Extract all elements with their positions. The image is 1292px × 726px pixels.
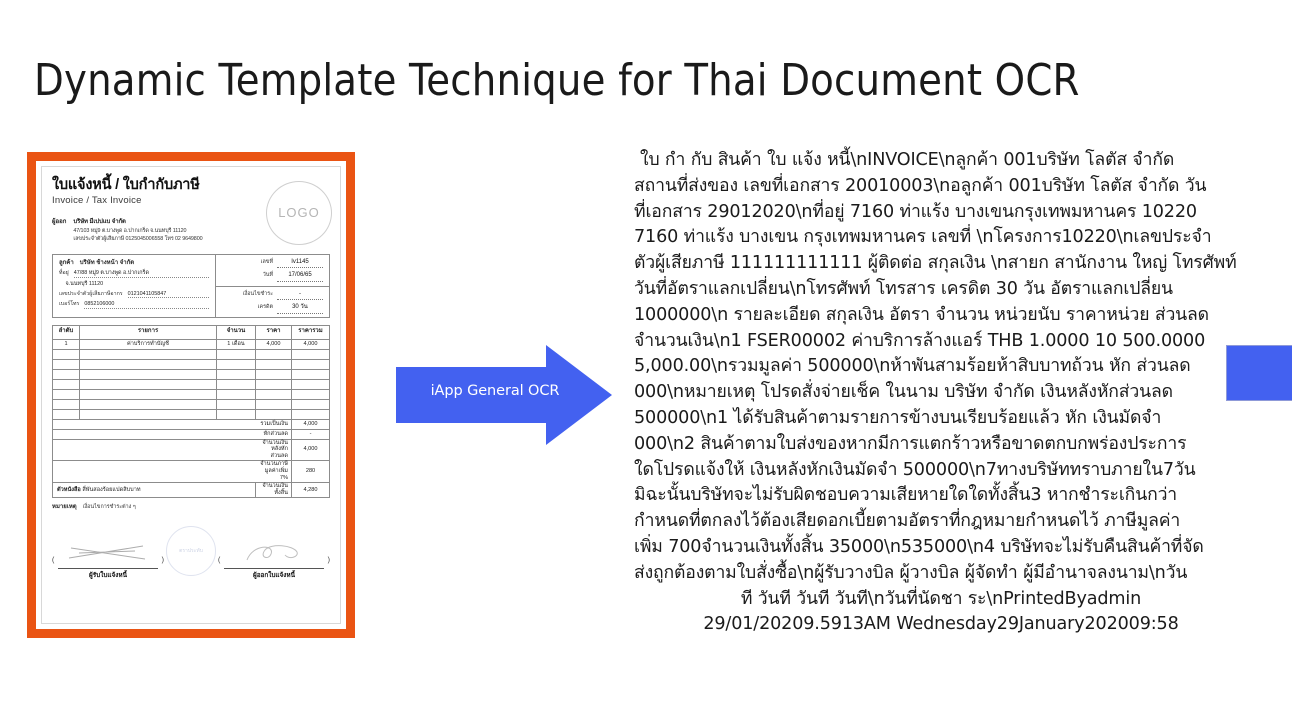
ocr-line: เพิ่ม 700จำนวนเงินทั้งสิ้น 35000\n535000… [634, 535, 1248, 561]
cell-no: 1 [53, 339, 80, 349]
table-row-empty [53, 369, 330, 379]
table-row-empty [53, 379, 330, 389]
payment-terms-row: เงื่อนไขชำระ - [222, 291, 323, 301]
ocr-line: มิฉะนั้นบริษัทจะไม่รับผิดชอบความเสียหายใ… [634, 483, 1248, 509]
summary-value-grand-total: 4,280 [292, 483, 330, 498]
invoice-meta-bottom: เงื่อนไขชำระ - เครดิต 30 วัน [216, 287, 329, 318]
credit-value: 30 วัน [277, 304, 323, 314]
summary-row-subtotal: รวมเป็นเงิน 4,000 [53, 419, 330, 429]
summary-label-grand-total: จำนวนเงินทั้งสิ้น [256, 483, 292, 498]
customer-address-line1: 47/88 หมู่9 ต.บางพูด อ.ปากเกร็ด [74, 270, 209, 278]
col-header-total: ราคารวม [292, 325, 330, 339]
ocr-line: 7160 ท่าแร้ง บางเขน กรุงเทพมหานคร เลขที่… [634, 225, 1248, 251]
summary-row-grand-total: ตัวหนังสือ สี่พันสองร้อยแปดสิบบาท จำนวนเ… [53, 483, 330, 498]
doc-number-value: Iv1145 [277, 259, 323, 269]
invoice-meta-block: เลขที่ Iv1145 วันที่ 17/06/65 เงื่อนไขชำ… [216, 255, 329, 317]
signature-line-right [224, 568, 324, 569]
open-paren-right: ( [218, 557, 220, 566]
summary-label-vat: จำนวนภาษีมูลค่าเพิ่ม 7% [256, 461, 292, 483]
col-header-no: ลำดับ [53, 325, 80, 339]
open-paren-left: ( [52, 557, 54, 566]
summary-label-after-discount: จำนวนเงินหลังหักส่วนลด [256, 439, 292, 461]
doc-date-value: 17/06/65 [277, 272, 323, 282]
summary-row-vat: จำนวนภาษีมูลค่าเพิ่ม 7% 280 [53, 461, 330, 483]
table-row: 1 ค่าบริการทำบัญชี 1 เดือน 4,000 4,000 [53, 339, 330, 349]
right-arrow-icon [396, 345, 612, 445]
customer-block: ลูกค้า บริษัท ช้างหน้า จำกัด ที่อยู่ 47/… [53, 255, 216, 317]
invoice-items-table: ลำดับ รายการ จำนวน ราคา ราคารวม 1 ค่าบริ… [52, 325, 330, 499]
issuer-details: บริษัท มีเปปแบ จำกัด 47/103 หมู่9 ต.บางพ… [73, 219, 202, 245]
invoice-inner-page: ใบแจ้งหนี้ / ใบกำกับภาษี Invoice / Tax I… [41, 166, 341, 624]
ocr-line: ส่งถูกต้องตามใบสั่งซื้อ\nผู้รับวางบิล ผู… [634, 561, 1248, 587]
summary-label-subtotal: รวมเป็นเงิน [256, 419, 292, 429]
summary-value-subtotal: 4,000 [292, 419, 330, 429]
logo-placeholder: LOGO [266, 181, 332, 245]
handwritten-signature-icon [65, 542, 151, 564]
blue-rectangle-shape [1226, 345, 1292, 401]
amount-in-words-cell: ตัวหนังสือ สี่พันสองร้อยแปดสิบบาท [53, 483, 256, 498]
ocr-line: สถานที่ส่งของ เลขที่เอกสาร 20010003\nอลู… [634, 174, 1248, 200]
customer-taxid-label: เลขประจำตัวผู้เสียภาษีอากร [59, 291, 123, 298]
ocr-line: 000\nหมายเหตุ โปรดสั่งจ่ายเช็ค ในนาม บริ… [634, 380, 1248, 406]
cell-desc: ค่าบริการทำบัญชี [80, 339, 217, 349]
invoice-meta-top: เลขที่ Iv1145 วันที่ 17/06/65 [216, 255, 329, 287]
logo-text: LOGO [278, 205, 320, 221]
handwritten-signature-icon [231, 542, 317, 564]
ocr-line: จำนวนเงิน\n1 FSER00002 ค่าบริการล้างแอร์… [634, 329, 1248, 355]
table-row-empty [53, 399, 330, 409]
customer-address-line2: จ.นนทบุรี 11120 [65, 281, 209, 288]
note-text: เงื่อนไขการชำระต่าง ๆ [83, 504, 136, 511]
credit-row: เครดิต 30 วัน [222, 304, 323, 314]
credit-label: เครดิต [258, 304, 273, 311]
invoice-document-image: ใบแจ้งหนี้ / ใบกำกับภาษี Invoice / Tax I… [27, 152, 355, 638]
process-arrow [396, 345, 612, 445]
customer-address-label: ที่อยู่ [59, 270, 69, 277]
doc-date-label: วันที่ [263, 272, 273, 279]
payment-terms-value: - [277, 291, 323, 301]
amount-in-words-label: ตัวหนังสือ [57, 487, 81, 493]
col-header-desc: รายการ [80, 325, 217, 339]
cell-price: 4,000 [256, 339, 292, 349]
summary-value-vat: 280 [292, 461, 330, 483]
amount-in-words-value: สี่พันสองร้อยแปดสิบบาท [82, 487, 140, 493]
ocr-line: ใบ กำ กับ สินค้า ใบ แจ้ง หนี้\nINVOICE\n… [634, 148, 1248, 174]
summary-label-discount: หักส่วนลด [256, 429, 292, 439]
close-paren-right: ) [328, 557, 330, 566]
customer-phone-label: เบอร์โทร [59, 301, 79, 308]
ocr-line: 5,000.00\nรวมมูลค่า 500000\nห้าพันสามร้อ… [634, 354, 1248, 380]
table-row-empty [53, 349, 330, 359]
table-row-empty [53, 409, 330, 419]
doc-number-label: เลขที่ [261, 259, 273, 266]
summary-value-discount: - [292, 429, 330, 439]
summary-value-after-discount: 4,000 [292, 439, 330, 461]
ocr-line: กำหนดที่ตกลงไว้ต้องเสียดอกเบี้ยตามอัตราท… [634, 509, 1248, 535]
close-paren-left: ) [162, 557, 164, 566]
table-row-empty [53, 389, 330, 399]
customer-label: ลูกค้า [59, 260, 74, 268]
note-block: หมายเหตุ เงื่อนไขการชำระต่าง ๆ [52, 504, 330, 512]
issuer-label: ผู้ออก [52, 219, 66, 245]
company-stamp-icon: ตราประทับ [166, 526, 216, 576]
cell-total: 4,000 [292, 339, 330, 349]
issuer-tax-id: เลขประจำตัวผู้เสียภาษี 0125045006558 โทร… [73, 236, 202, 243]
signature-receiver: ( ) ผู้รับใบแจ้งหนี้ [52, 557, 164, 580]
ocr-line: 29/01/20209.5913AM Wednesday29January202… [634, 612, 1248, 638]
ocr-line: 1000000\n รายละเอียด สกุลเงิน อัตรา จำนว… [634, 303, 1248, 329]
ocr-line: 500000\n1 ได้รับสินค้าตามรายการข้างบนเรี… [634, 406, 1248, 432]
customer-phone-value: 0852106000 [84, 301, 209, 309]
ocr-line: ที วันที วันที วันที\nวันที่นัดชา ระ\nPr… [634, 587, 1248, 613]
signature-block: ( ) ผู้รับใบแจ้งหนี้ ตราประทับ ( ) [52, 522, 330, 580]
signature-line-left [58, 568, 158, 569]
ocr-line: วันที่อัตราแลกเปลี่ยน\nโทรศัพท์ โทรสาร เ… [634, 277, 1248, 303]
party-and-meta-box: ลูกค้า บริษัท ช้างหน้า จำกัด ที่อยู่ 47/… [52, 254, 330, 318]
table-row-empty [53, 359, 330, 369]
customer-name: บริษัท ช้างหน้า จำกัด [80, 260, 135, 268]
summary-row-discount: หักส่วนลด - [53, 429, 330, 439]
summary-row-after-discount: จำนวนเงินหลังหักส่วนลด 4,000 [53, 439, 330, 461]
note-label: หมายเหตุ [52, 504, 77, 512]
ocr-line: ที่เอกสาร 29012020\nที่อยู่ 7160 ท่าแร้ง… [634, 200, 1248, 226]
page-title: Dynamic Template Technique for Thai Docu… [34, 55, 1080, 106]
signature-caption-right: ผู้ออกใบแจ้งหนี้ [218, 572, 330, 580]
ocr-output-text: ใบ กำ กับ สินค้า ใบ แจ้ง หนี้\nINVOICE\n… [634, 148, 1248, 638]
issuer-address: 47/103 หมู่9 ต.บางพูด อ.ปากเกร็ด จ.นนทบุ… [73, 228, 202, 235]
cell-qty: 1 เดือน [217, 339, 256, 349]
col-header-price: ราคา [256, 325, 292, 339]
issuer-name: บริษัท มีเปปแบ จำกัด [73, 219, 202, 227]
ocr-line: 000\n2 สินค้าตามใบส่งของหากมีการแตกร้าวห… [634, 432, 1248, 458]
stamp-text: ตราประทับ [179, 548, 203, 554]
ocr-line: ใดโปรดแจ้งให้ เงินหลังหักเงินมัดจำ 50000… [634, 458, 1248, 484]
signature-caption-left: ผู้รับใบแจ้งหนี้ [52, 572, 164, 580]
col-header-qty: จำนวน [217, 325, 256, 339]
ocr-line: ตัวผู้เสียภาษี 111111111111 ผู้ติดต่อ สก… [634, 251, 1248, 277]
doc-date-row: วันที่ 17/06/65 [222, 272, 323, 282]
customer-taxid-value: 0121041105847 [128, 291, 209, 299]
payment-terms-label: เงื่อนไขชำระ [243, 291, 273, 298]
table-header-row: ลำดับ รายการ จำนวน ราคา ราคารวม [53, 325, 330, 339]
signature-issuer: ( ) ผู้ออกใบแจ้งหนี้ [218, 557, 330, 580]
doc-number-row: เลขที่ Iv1145 [222, 259, 323, 269]
